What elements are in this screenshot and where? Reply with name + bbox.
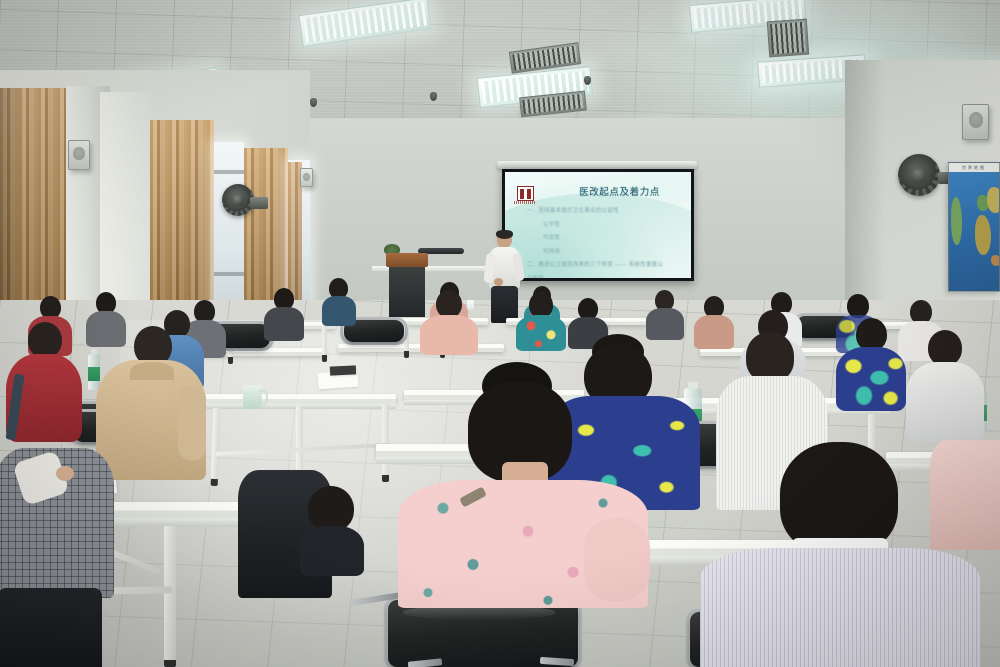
institution-emblem-icon <box>514 182 536 204</box>
attendee-red-polo <box>6 322 82 442</box>
attendee-back-9 <box>646 290 684 338</box>
slide-bullet-0: 一、坚持基本医疗卫生事业的公益性 <box>527 206 685 214</box>
desk-leg-r4-b <box>322 326 327 362</box>
head <box>28 322 62 358</box>
wall-speaker-right <box>962 104 989 140</box>
slide-bullet-2: 可及性 <box>543 233 685 241</box>
emblem-subtext <box>514 201 536 204</box>
torso <box>264 307 304 341</box>
window-rail-1 <box>214 170 244 174</box>
hand <box>56 466 74 481</box>
head <box>436 290 462 318</box>
attendee-grey-check-jacket <box>0 448 114 667</box>
sprinkler-3 <box>584 76 591 85</box>
wall-fan-right <box>898 154 940 196</box>
projection-screen-roller <box>497 161 697 169</box>
green-mug <box>243 385 262 409</box>
world-map-poster: 世界地图 <box>948 162 1000 292</box>
presenter-hand <box>494 278 503 286</box>
window-rail-2 <box>214 272 244 276</box>
map-poster-title: 世界地图 <box>949 163 999 172</box>
wall-speaker-left <box>68 140 90 170</box>
torso <box>836 347 906 411</box>
arm-right <box>584 518 650 602</box>
sprinkler-2 <box>430 92 437 101</box>
slide-surface: 医改起点及着力点 一、坚持基本医疗卫生事业的公益性 公平性 可及性 可持续 二、… <box>505 172 691 278</box>
sprinkler-1 <box>310 98 317 107</box>
slide-bullet-5: 立医院 <box>527 274 685 279</box>
attendee-foreground-edge-left <box>300 486 364 574</box>
slide-bullet-3: 可持续 <box>543 247 685 255</box>
curtain-far-left <box>0 88 66 314</box>
projection-screen: 医改起点及着力点 一、坚持基本医疗卫生事业的公益性 公平性 可及性 可持续 二、… <box>502 169 694 281</box>
desk-row2-left <box>200 394 396 404</box>
torso <box>646 308 684 340</box>
classroom-photo: 世界地图 医改起点及着力点 一、坚持基本医疗卫生事业的公益性 公平性 可及性 可… <box>0 0 1000 667</box>
torso <box>420 315 478 355</box>
head <box>928 330 962 366</box>
head <box>746 332 794 382</box>
wall-fan-left <box>222 184 254 216</box>
curtain-left-3 <box>150 120 214 318</box>
emblem-shape <box>517 186 534 201</box>
torso <box>322 296 356 326</box>
attendee-back-1 <box>322 278 356 324</box>
desk-leg-front-b <box>164 526 176 667</box>
torso <box>300 526 364 576</box>
attendee-white-right-far <box>906 330 984 440</box>
arm <box>178 386 206 460</box>
wall-speaker-far <box>300 168 313 187</box>
fan-hub <box>911 167 926 182</box>
torso <box>700 548 980 667</box>
trousers <box>0 588 102 667</box>
slide-bullet-4: 二、推进公立医院改革的三个转变 —— 系统性重建公 <box>527 260 685 268</box>
attendee-pink-floral-blouse <box>398 368 648 608</box>
papers-center-desk-2 <box>330 365 356 375</box>
pillar-left-2 <box>100 92 152 316</box>
window-left-1 <box>214 142 244 314</box>
slide-body: 一、坚持基本医疗卫生事业的公益性 公平性 可及性 可持续 二、推进公立医院改革的… <box>527 206 685 278</box>
podium-top <box>386 253 428 267</box>
blazer-collar <box>130 362 174 380</box>
attendee-lavender-stripe-shirt <box>700 450 980 667</box>
air-vent-4 <box>767 19 809 58</box>
fan-mount-arm <box>250 197 268 209</box>
map-landmass-africa <box>975 215 991 255</box>
slide-bullet-1: 公平性 <box>543 220 685 228</box>
fan-hub <box>232 194 244 206</box>
map-landmass-asia <box>987 187 1000 213</box>
torso <box>906 362 984 442</box>
slide-title: 医改起点及着力点 <box>557 184 682 198</box>
attendee-print-top-right <box>836 318 906 410</box>
attendee-pale-pink-top <box>420 290 478 350</box>
presenter-hair <box>496 230 513 239</box>
attendee-back-2 <box>264 288 304 340</box>
map-landmass-australia <box>991 255 1000 266</box>
